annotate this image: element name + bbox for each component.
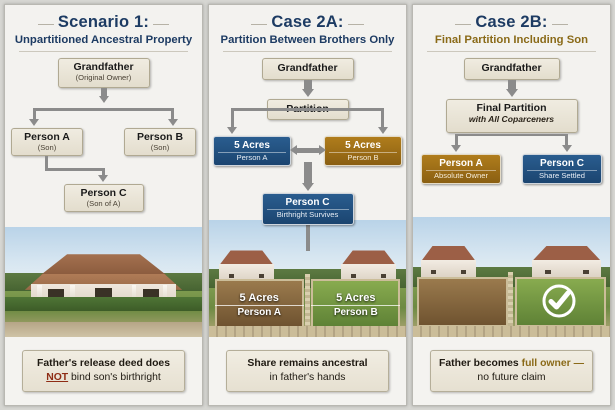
- connector-line: [455, 134, 568, 136]
- connector-arrow: [302, 89, 314, 97]
- node-label: Person B: [129, 132, 191, 144]
- node-sublabel: (Original Owner): [63, 74, 145, 82]
- node-person-c[interactable]: Person C Share Settled: [522, 154, 602, 184]
- node-grandfather[interactable]: Grandfather: [262, 58, 354, 80]
- node-person-c[interactable]: Person C Birthright Survives: [262, 193, 354, 225]
- plot-acres: 5 Acres: [311, 292, 400, 304]
- kerb: [413, 326, 610, 337]
- panel-3-flowchart: Grandfather Final Partition with All Cop…: [413, 56, 610, 196]
- window: [545, 270, 551, 274]
- window: [143, 289, 159, 297]
- caption-line-1: Father's release deed does: [37, 358, 170, 369]
- node-acres-person-b[interactable]: 5 Acres Person B: [324, 136, 402, 166]
- node-acres-person-a[interactable]: 5 Acres Person A: [213, 136, 291, 166]
- node-sublabel: Absolute Owner: [426, 170, 496, 180]
- connector-arrow-left: [290, 145, 297, 155]
- plot-left: [417, 277, 508, 327]
- node-person-a[interactable]: Person A (Son): [11, 128, 83, 156]
- connector-arrow: [168, 119, 178, 126]
- caption-line-2: no future claim: [477, 372, 545, 383]
- roof-upper: [21, 254, 187, 275]
- connector-line: [231, 108, 384, 111]
- panel-1-flowchart: Grandfather (Original Owner) Person A (S…: [5, 56, 202, 216]
- node-label: Grandfather: [63, 62, 145, 74]
- two-villas-with-plots-photo: [413, 217, 610, 337]
- window: [461, 270, 466, 274]
- node-label: 5 Acres: [329, 140, 397, 151]
- node-person-c[interactable]: Person C (Son of A): [64, 184, 144, 212]
- connector-line: [381, 108, 384, 128]
- connector-line: [304, 162, 312, 184]
- header-divider: [223, 51, 392, 52]
- villa-right: [339, 250, 398, 280]
- check-circle-icon: [540, 282, 578, 320]
- wall: [532, 260, 601, 277]
- node-label: 5 Acres: [218, 140, 286, 151]
- node-sublabel: (Son): [129, 144, 191, 152]
- node-label: Grandfather: [277, 63, 337, 75]
- panel-case-2a: Case 2A: Partition Between Brothers Only…: [208, 4, 407, 406]
- connector-arrow: [378, 127, 388, 134]
- node-person-b[interactable]: Person B (Son): [124, 128, 196, 156]
- connector-arrow: [302, 183, 314, 191]
- node-sublabel: (Son of A): [69, 200, 139, 208]
- connector-line: [33, 108, 174, 111]
- node-grandfather[interactable]: Grandfather: [464, 58, 560, 80]
- road: [5, 322, 202, 337]
- plot-acres: 5 Acres: [215, 292, 304, 304]
- caption-line-2: bind son's birthright: [71, 372, 161, 383]
- hedge: [5, 297, 202, 310]
- window: [431, 270, 436, 274]
- roof: [415, 246, 481, 260]
- panel-1-header: Scenario 1: Unpartitioned Ancestral Prop…: [5, 5, 202, 56]
- connector-arrow: [29, 119, 39, 126]
- caption-pre: Father becomes: [439, 358, 519, 369]
- caption-highlight: full owner —: [522, 358, 584, 369]
- connector-line: [297, 148, 319, 153]
- caption-line-2: in father's hands: [270, 372, 346, 383]
- connector-arrow: [227, 127, 237, 134]
- infographic-root: Scenario 1: Unpartitioned Ancestral Prop…: [0, 0, 615, 410]
- panel-1-subtitle: Unpartitioned Ancestral Property: [11, 34, 196, 47]
- page-title: Case 2A:: [263, 13, 351, 32]
- panel-3-header: Case 2B: Final Partition Including Son: [413, 5, 610, 56]
- node-final-partition[interactable]: Final Partition with All Coparceners: [446, 99, 578, 133]
- node-sublabel: Person B: [329, 152, 397, 162]
- kerb: [209, 326, 406, 337]
- panel-1-caption-area: Father's release deed does NOT bind son'…: [5, 337, 202, 405]
- header-divider: [19, 51, 188, 52]
- panel-2-flowchart: Grandfather Partition 5 Acres Person A 5…: [209, 56, 406, 246]
- connector-line: [231, 108, 234, 128]
- plot-label-a: 5 Acres Person A: [215, 292, 304, 318]
- node-sublabel: Share Settled: [527, 170, 597, 180]
- node-label: Person A: [426, 158, 496, 169]
- roof: [213, 250, 279, 264]
- panel-2-subtitle: Partition Between Brothers Only: [215, 34, 400, 47]
- panel-2-caption-area: Share remains ancestral in father's hand…: [209, 337, 406, 405]
- connector-arrow: [451, 145, 461, 152]
- plot-owner: Person B: [311, 305, 400, 318]
- panel-3-subtitle: Final Partition Including Son: [419, 34, 604, 47]
- connector-arrow: [98, 175, 108, 182]
- plot-owner: Person A: [215, 305, 304, 318]
- roof: [336, 250, 402, 264]
- window: [583, 270, 589, 274]
- node-sublabel: with All Coparceners: [451, 115, 573, 124]
- node-sublabel: Birthright Survives: [267, 209, 349, 219]
- node-label: Person C: [527, 158, 597, 169]
- caption-emphasis: NOT: [46, 372, 68, 383]
- node-label: Person A: [16, 132, 78, 144]
- connector-arrow: [506, 89, 518, 97]
- villa-right: [529, 246, 604, 277]
- panel-2-header: Case 2A: Partition Between Brothers Only: [209, 5, 406, 56]
- panel-case-2b: Case 2B: Final Partition Including Son G…: [412, 4, 611, 406]
- caption-line-1: Share remains ancestral: [247, 358, 367, 369]
- window: [351, 274, 356, 278]
- node-label: Final Partition: [451, 103, 573, 115]
- node-label: Person C: [267, 197, 349, 208]
- window: [229, 274, 234, 278]
- connector-arrow: [562, 145, 572, 152]
- plot-label-b: 5 Acres Person B: [311, 292, 400, 318]
- wall: [421, 260, 475, 277]
- connector-arrow-right: [319, 145, 326, 155]
- roof: [525, 246, 609, 260]
- page-title: Scenario 1:: [50, 13, 157, 32]
- traditional-ancestral-house-photo: [5, 227, 202, 337]
- caption-box: Father becomes full owner — no future cl…: [430, 350, 594, 391]
- window: [381, 274, 386, 278]
- caption-box: Share remains ancestral in father's hand…: [226, 350, 390, 391]
- node-grandfather[interactable]: Grandfather (Original Owner): [58, 58, 150, 88]
- panel-scenario-1: Scenario 1: Unpartitioned Ancestral Prop…: [4, 4, 203, 406]
- node-label: Grandfather: [481, 63, 541, 75]
- node-sublabel: Person A: [218, 152, 286, 162]
- window: [259, 274, 264, 278]
- villa-left: [217, 250, 276, 280]
- connector-line: [45, 168, 105, 171]
- node-person-a[interactable]: Person A Absolute Owner: [421, 154, 501, 184]
- node-label: Person C: [69, 188, 139, 200]
- window: [48, 289, 64, 297]
- connector-arrow: [99, 96, 109, 103]
- connector-post: [306, 225, 310, 251]
- panel-3-caption-area: Father becomes full owner — no future cl…: [413, 337, 610, 405]
- villa-left: [419, 246, 478, 277]
- header-divider: [427, 51, 596, 52]
- caption-box: Father's release deed does NOT bind son'…: [22, 350, 186, 391]
- page-title: Case 2B:: [467, 13, 555, 32]
- node-sublabel: (Son): [16, 144, 78, 152]
